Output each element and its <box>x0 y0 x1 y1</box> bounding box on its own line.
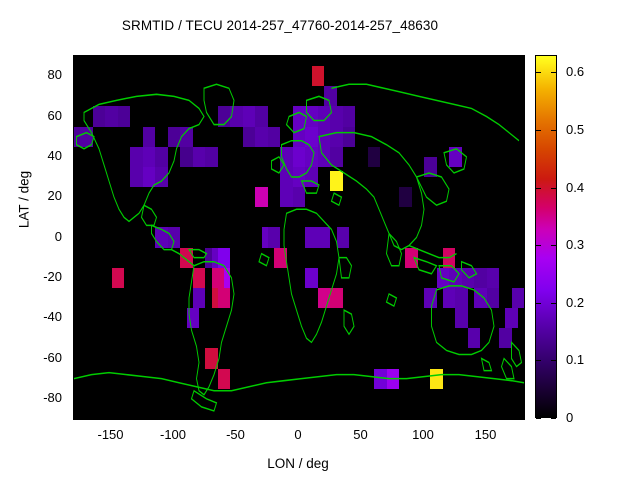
map-plot-inner <box>74 56 524 419</box>
colorbar-tick-label: 0.5 <box>566 123 612 136</box>
colorbar-tick-mark <box>536 188 541 189</box>
page-title: SRMTID / TECU 2014-257_47760-2014-257_48… <box>0 18 560 33</box>
y-axis-tick-mark <box>74 277 79 278</box>
x-axis-tick-label: -100 <box>143 428 203 441</box>
colorbar-tick-mark <box>551 360 556 361</box>
colorbar-tick-mark <box>536 418 541 419</box>
colorbar-tick-label: 0.2 <box>566 296 612 309</box>
colorbar-tick-label: 0.6 <box>566 65 612 78</box>
colorbar-tick-mark <box>551 245 556 246</box>
x-axis-tick-label: 100 <box>393 428 453 441</box>
colorbar-tick-mark <box>551 130 556 131</box>
x-axis-tick-label: 0 <box>268 428 328 441</box>
y-axis-label: LAT / deg <box>17 140 32 260</box>
y-axis-tick-mark <box>74 116 79 117</box>
y-axis-tick-label: -40 <box>0 310 62 323</box>
y-axis-tick-mark <box>74 317 79 318</box>
x-axis-tick-mark <box>423 413 424 418</box>
y-axis-tick-mark <box>74 358 79 359</box>
coastline-overlay <box>74 56 524 419</box>
x-axis-tick-label: 50 <box>331 428 391 441</box>
colorbar-tick-mark <box>536 130 541 131</box>
x-axis-tick-mark <box>486 413 487 418</box>
x-axis-tick-mark <box>361 413 362 418</box>
y-axis-tick-label: 80 <box>0 68 62 81</box>
colorbar-tick-mark <box>536 245 541 246</box>
y-axis-tick-mark <box>74 237 79 238</box>
y-axis-tick-mark <box>74 156 79 157</box>
x-axis-tick-mark <box>236 413 237 418</box>
colorbar-tick-mark <box>536 72 541 73</box>
map-plot-area[interactable] <box>73 55 525 420</box>
colorbar-tick-label: 0.3 <box>566 238 612 251</box>
y-axis-tick-mark <box>74 75 79 76</box>
y-axis-tick-label: -60 <box>0 351 62 364</box>
y-axis-tick-mark <box>74 398 79 399</box>
y-axis-tick-label: -20 <box>0 270 62 283</box>
colorbar-tick-mark <box>551 188 556 189</box>
colorbar-tick-mark <box>551 72 556 73</box>
colorbar-tick-mark <box>536 303 541 304</box>
colorbar-tick-mark <box>551 418 556 419</box>
x-axis-tick-label: 150 <box>456 428 516 441</box>
x-axis-tick-mark <box>111 413 112 418</box>
colorbar-tick-mark <box>536 360 541 361</box>
colorbar[interactable] <box>535 55 557 418</box>
x-axis-tick-mark <box>298 413 299 418</box>
colorbar-tick-label: 0.4 <box>566 181 612 194</box>
x-axis-tick-label: -50 <box>206 428 266 441</box>
x-axis-label: LON / deg <box>73 456 523 471</box>
colorbar-tick-label: 0 <box>566 411 612 424</box>
colorbar-tick-label: 0.1 <box>566 353 612 366</box>
x-axis-tick-mark <box>173 413 174 418</box>
y-axis-tick-label: -80 <box>0 391 62 404</box>
y-axis-tick-mark <box>74 196 79 197</box>
x-axis-tick-label: -150 <box>81 428 141 441</box>
y-axis-tick-label: 60 <box>0 109 62 122</box>
figure-canvas: SRMTID / TECU 2014-257_47760-2014-257_48… <box>0 0 640 480</box>
colorbar-tick-mark <box>551 303 556 304</box>
